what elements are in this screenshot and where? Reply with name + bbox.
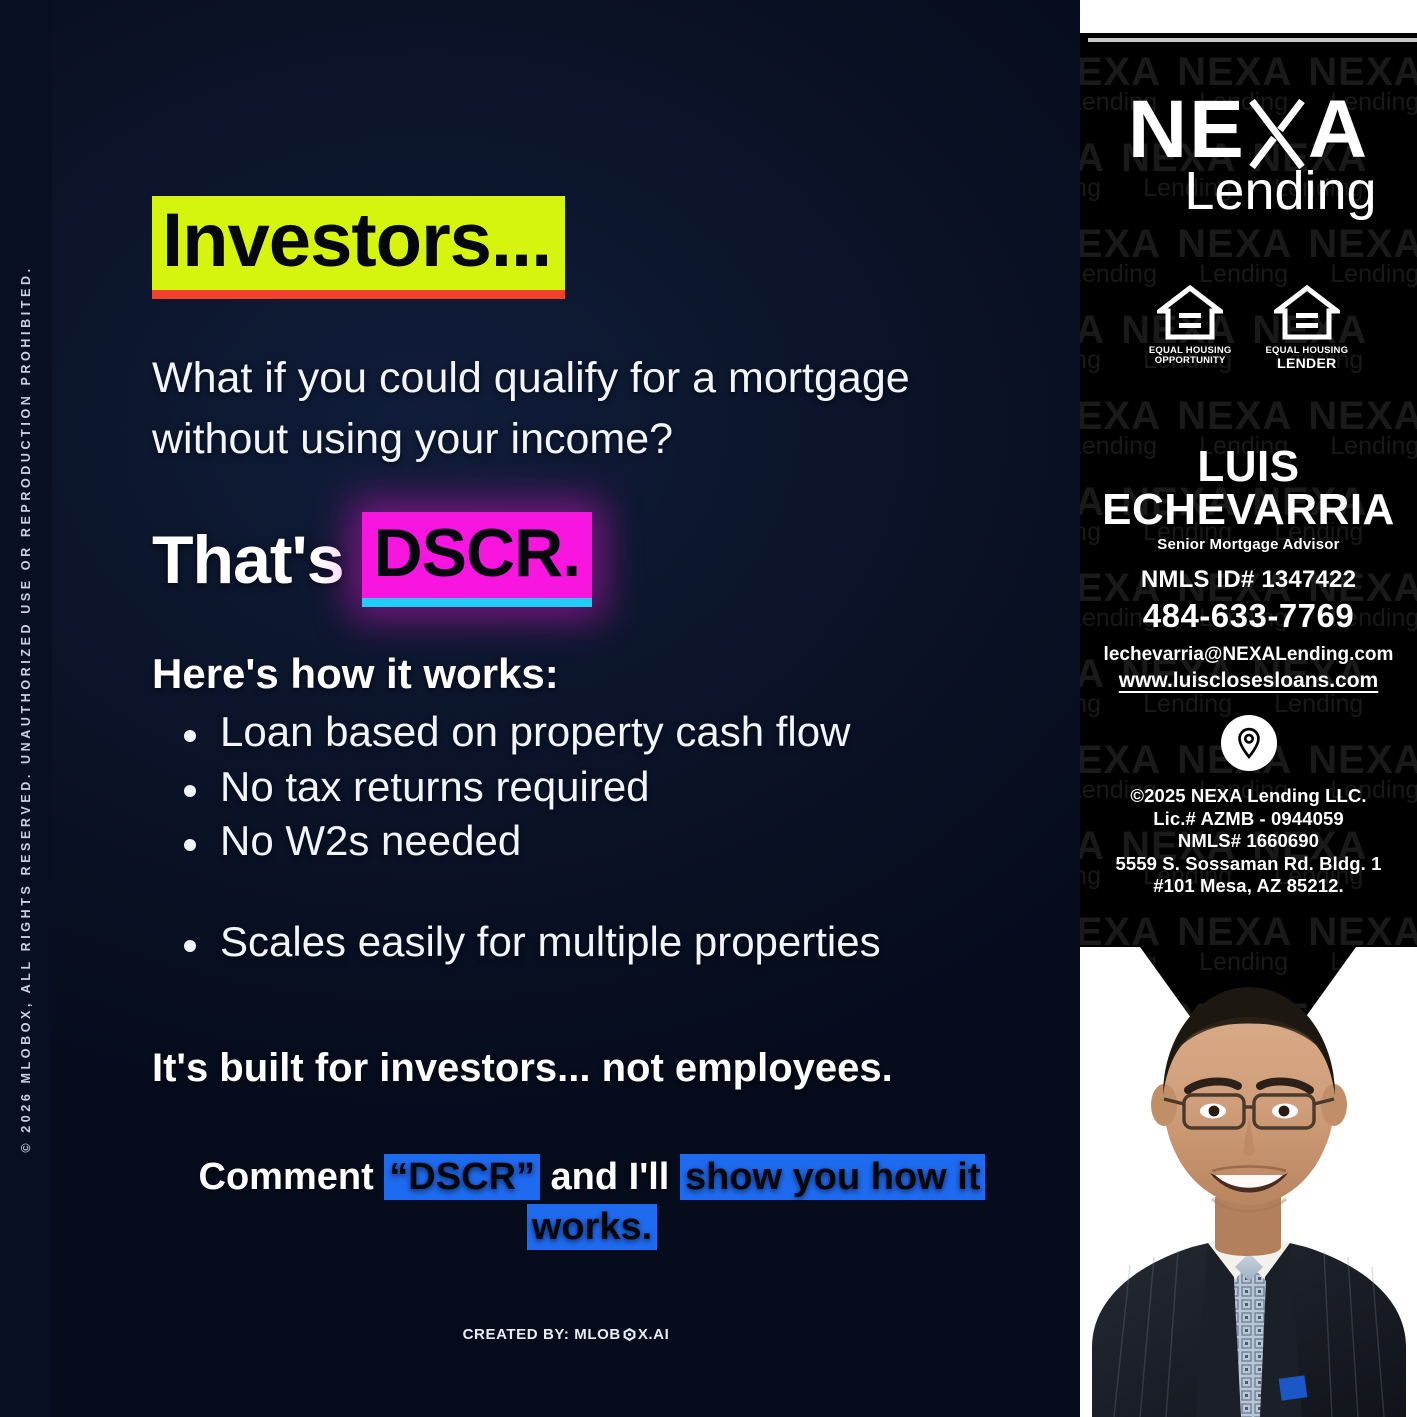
sidebar-black-panel: NEXALendingNEXALendingNEXALendingNEXALen…: [1080, 33, 1417, 1417]
ehl-caption-line2: LENDER: [1266, 356, 1349, 371]
closing-statement: It's built for investors... not employee…: [152, 1046, 1052, 1091]
watermark-lending-text: Lending: [1177, 263, 1292, 287]
watermark-nexa-text: NEXA: [1308, 914, 1417, 951]
agent-phone[interactable]: 484-633-7769: [1080, 597, 1417, 635]
legal-line: Lic.# AZMB - 0944059: [1080, 808, 1417, 831]
location-badge: [1221, 715, 1277, 771]
mlobox-hexagon-icon: [622, 1327, 637, 1342]
logo-a-text: A: [1308, 84, 1369, 175]
created-by-credit: CREATED BY: MLOB X.AI: [52, 1326, 1080, 1343]
equal-housing-opportunity-badge: EQUAL HOUSING OPPORTUNITY: [1149, 285, 1232, 371]
dscr-prefix-text: That's: [152, 521, 344, 599]
watermark-nexa-text: NEXA: [1080, 742, 1161, 779]
house-icon: [1157, 285, 1223, 341]
cta-keyword-dscr: “DSCR”: [384, 1154, 540, 1200]
list-item: No W2s needed: [172, 817, 1052, 866]
benefits-list: Loan based on property cash flow No tax …: [172, 708, 1052, 973]
watermark-lending-text: Lending: [1308, 263, 1417, 287]
headline-investors: Investors...: [152, 196, 565, 299]
watermark-lending-text: Lending: [1121, 693, 1236, 717]
agent-first-name: LUIS: [1080, 445, 1417, 488]
copyright-vertical-text: © 2026 MLOBOX, ALL RIGHTS RESERVED. UNAU…: [19, 265, 33, 1152]
dscr-highlight-text: DSCR.: [362, 512, 593, 607]
credit-prefix: CREATED BY: MLOB: [463, 1326, 621, 1343]
watermark-nexa-text: NEXA: [1177, 914, 1292, 951]
agent-role: Senior Mortgage Advisor: [1080, 536, 1417, 553]
logo-ne-text: NE: [1128, 84, 1246, 175]
agent-email[interactable]: lechevarria@NEXALending.com: [1080, 644, 1417, 666]
cta-part-1: Comment: [199, 1156, 385, 1198]
subheadline-question: What if you could qualify for a mortgage…: [152, 348, 992, 470]
nexa-logo: NE A Lending: [1080, 91, 1417, 218]
watermark-unit: NEXALending: [1308, 226, 1417, 287]
eho-caption-line2: OPPORTUNITY: [1149, 356, 1232, 366]
list-item: No tax returns required: [172, 763, 1052, 812]
house-icon: [1274, 285, 1340, 341]
legal-line: #101 Mesa, AZ 85212.: [1080, 875, 1417, 898]
legal-line: ©2025 NEXA Lending LLC.: [1080, 785, 1417, 808]
watermark-lending-text: Lending: [1252, 693, 1367, 717]
headline-highlight-text: Investors...: [152, 196, 565, 299]
watermark-nexa-text: NEXA: [1080, 398, 1161, 435]
poster-canvas: © 2026 MLOBOX, ALL RIGHTS RESERVED. UNAU…: [0, 0, 1417, 1417]
watermark-nexa-text: NEXA: [1308, 226, 1417, 263]
how-it-works-title: Here's how it works:: [152, 650, 559, 698]
equal-housing-lender-badge: EQUAL HOUSING LENDER: [1266, 285, 1349, 371]
watermark-nexa-text: NEXA: [1308, 742, 1417, 779]
agent-website[interactable]: www.luisclosesloans.com: [1080, 669, 1417, 693]
dscr-headline: That's DSCR.: [152, 512, 592, 607]
credit-suffix: X.AI: [638, 1326, 670, 1343]
legal-line: 5559 S. Sossaman Rd. Bldg. 1: [1080, 853, 1417, 876]
list-item: Loan based on property cash flow: [172, 708, 1052, 757]
agent-last-name: ECHEVARRIA: [1080, 488, 1417, 531]
list-item: Scales easily for multiple properties: [172, 918, 1052, 967]
watermark-unit: NEXALending: [1080, 226, 1161, 287]
agent-info: LUIS ECHEVARRIA Senior Mortgage Advisor …: [1080, 445, 1417, 693]
legal-disclosure: ©2025 NEXA Lending LLC. Lic.# AZMB - 094…: [1080, 785, 1417, 898]
main-content: Investors... What if you could qualify f…: [52, 0, 1080, 1417]
watermark-nexa-text: NEXA: [1080, 226, 1161, 263]
watermark-nexa-text: NEXA: [1308, 398, 1417, 435]
watermark-nexa-text: NEXA: [1177, 398, 1292, 435]
cta-part-2: and I'll: [540, 1156, 680, 1198]
sidebar-top-divider: [1088, 38, 1417, 42]
nexa-wordmark: NE A: [1128, 91, 1369, 168]
legal-line: NMLS# 1660690: [1080, 830, 1417, 853]
watermark-lending-text: Lending: [1080, 693, 1105, 717]
watermark-unit: NEXALending: [1177, 226, 1292, 287]
watermark-nexa-text: NEXA: [1080, 914, 1161, 951]
call-to-action: Comment “DSCR” and I'll show you how it …: [152, 1152, 1032, 1252]
agent-sidebar: NEXALendingNEXALendingNEXALendingNEXALen…: [1080, 0, 1417, 1417]
equal-housing-badges: EQUAL HOUSING OPPORTUNITY EQUAL HOUSING …: [1080, 285, 1417, 371]
watermark-lending-text: Lending: [1080, 263, 1161, 287]
watermark-nexa-text: NEXA: [1177, 226, 1292, 263]
agent-portrait-photo: [1084, 947, 1414, 1417]
location-pin-icon: [1232, 726, 1266, 760]
copyright-strip: © 2026 MLOBOX, ALL RIGHTS RESERVED. UNAU…: [0, 0, 52, 1417]
agent-nmls-id: NMLS ID# 1347422: [1080, 566, 1417, 594]
